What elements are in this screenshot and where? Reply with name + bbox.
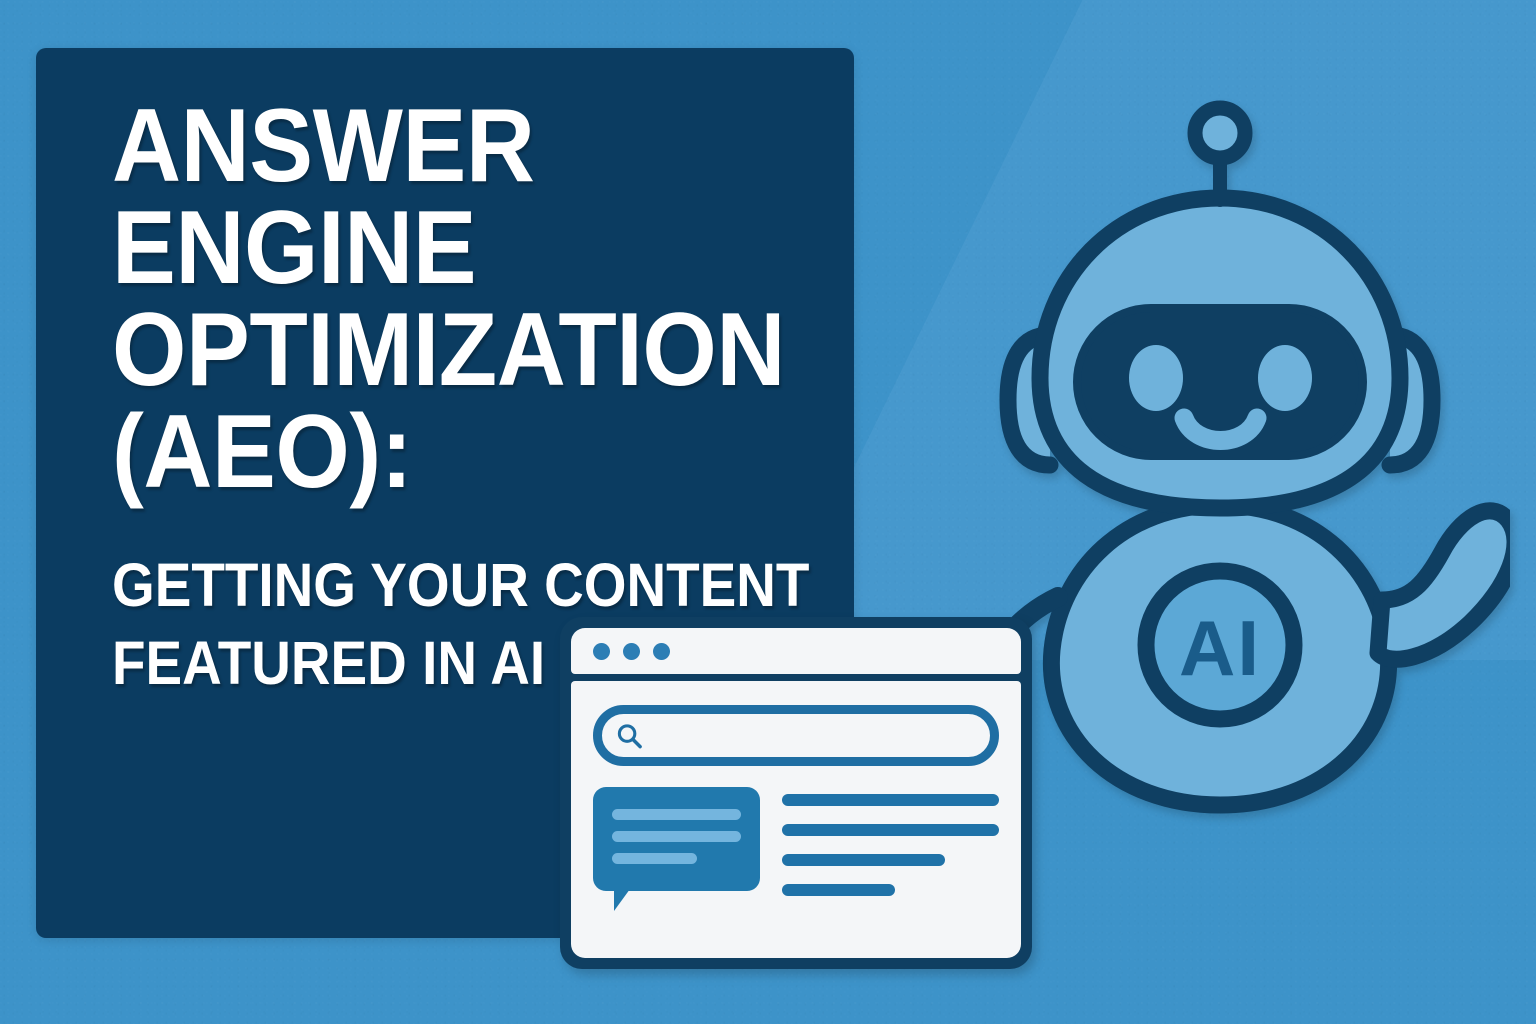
results-row [593, 787, 999, 896]
result-line-1 [782, 794, 999, 806]
result-lines [782, 787, 999, 896]
search-input[interactable] [593, 705, 999, 766]
bubble-tail-icon [614, 889, 630, 911]
browser-titlebar [571, 628, 1021, 674]
poster-canvas: AI ANSWER ENGINE OPTIMIZATION (AEO): GET… [0, 0, 1536, 1024]
robot-right-eye [1258, 345, 1312, 411]
search-icon [616, 722, 643, 749]
page-title: ANSWER ENGINE OPTIMIZATION (AEO): [112, 96, 903, 504]
browser-content [571, 681, 1021, 958]
answer-bubble [593, 787, 760, 891]
window-dot-icon-2[interactable] [623, 643, 640, 660]
window-dot-icon-1[interactable] [593, 643, 610, 660]
result-line-4 [782, 884, 895, 896]
result-line-3 [782, 854, 945, 866]
robot-ai-badge-label: AI [1179, 604, 1261, 692]
bubble-line-3 [612, 853, 697, 864]
robot-left-eye [1129, 345, 1183, 411]
bubble-line-1 [612, 809, 741, 820]
title-block: ANSWER ENGINE OPTIMIZATION (AEO): GETTIN… [112, 96, 972, 702]
window-dot-icon-3[interactable] [653, 643, 670, 660]
bubble-line-2 [612, 831, 741, 842]
browser-window [560, 617, 1032, 969]
robot-waving-arm [1378, 511, 1510, 659]
answer-bubble-wrap [593, 787, 760, 896]
robot-antenna-ball [1195, 108, 1245, 158]
result-line-2 [782, 824, 999, 836]
